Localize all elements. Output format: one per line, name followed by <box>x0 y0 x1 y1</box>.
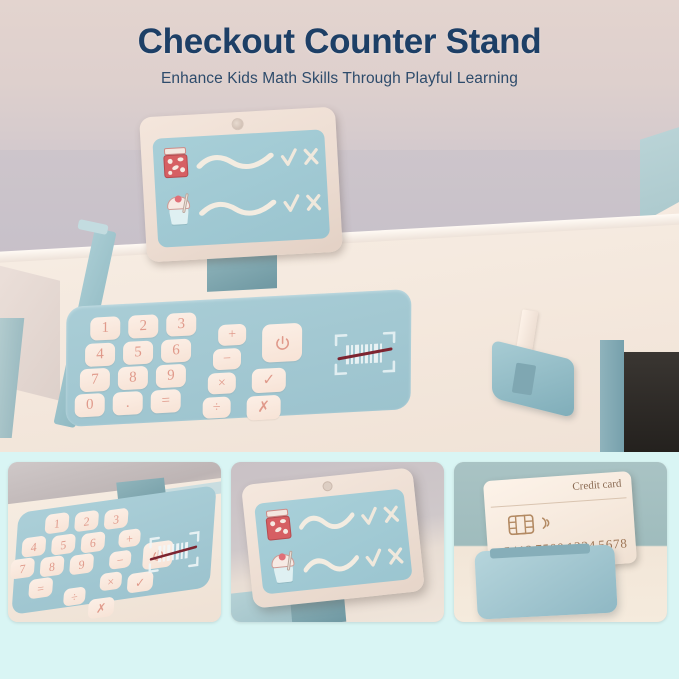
thumbnail-row: 1 2 3 4 5 6 7 8 9 = + − × ÷ <box>8 462 667 622</box>
display-screen[interactable] <box>139 107 343 263</box>
key-2: 2 <box>74 510 99 533</box>
jam-jar-icon <box>159 145 193 185</box>
key-8[interactable]: 8 <box>118 366 148 391</box>
key-equals[interactable]: = <box>151 389 181 414</box>
display-row <box>161 180 323 235</box>
contactless-wave-icon <box>539 514 554 531</box>
key-6[interactable]: 6 <box>161 338 191 363</box>
key-multiply[interactable]: × <box>208 372 236 394</box>
key-7: 7 <box>10 557 35 580</box>
credit-card-label: Credit card <box>572 478 622 493</box>
key-multiply: × <box>99 571 122 591</box>
page-title: Checkout Counter Stand <box>0 22 679 62</box>
key-3: 3 <box>104 508 129 531</box>
key-2[interactable]: 2 <box>128 314 158 339</box>
squiggle-line <box>195 148 276 174</box>
key-cross[interactable]: ✗ <box>247 395 281 421</box>
key-0[interactable]: 0 <box>75 393 105 418</box>
thumb-scanning-area[interactable]: 1 2 3 4 5 6 7 8 9 = + − × ÷ <box>8 462 221 622</box>
key-check: ✓ <box>127 571 154 594</box>
key-8: 8 <box>40 555 65 578</box>
squiggle-line <box>302 549 362 577</box>
shelf-opening <box>620 352 679 452</box>
product-infographic: 1 2 3 4 5 6 7 8 9 0 . = + − × ÷ ✓ ✗ <box>0 0 679 679</box>
barcode-scan-icon <box>148 530 201 574</box>
check-icon <box>279 145 298 172</box>
key-minus[interactable]: − <box>213 348 241 370</box>
card-slot-icon[interactable] <box>486 312 596 420</box>
barcode-scan-icon[interactable] <box>334 330 396 377</box>
key-1: 1 <box>44 512 69 535</box>
feature-strip: 1 2 3 4 5 6 7 8 9 = + − × ÷ <box>0 452 679 679</box>
display-glass <box>152 129 330 247</box>
key-7[interactable]: 7 <box>80 368 110 393</box>
key-plus[interactable]: + <box>218 324 246 346</box>
key-equals: = <box>28 577 53 600</box>
key-5[interactable]: 5 <box>123 340 153 365</box>
thumb-screen[interactable] <box>231 462 444 622</box>
emv-chip-icon <box>507 514 534 536</box>
ice-cream-cup-icon <box>161 191 195 231</box>
cross-icon <box>303 190 322 217</box>
key-plus: + <box>118 528 141 548</box>
key-6: 6 <box>80 531 105 554</box>
cross-icon <box>301 144 320 171</box>
thumb-credit-card-payment[interactable]: Credit card <box>454 462 667 622</box>
key-4[interactable]: 4 <box>85 342 115 367</box>
squiggle-line <box>297 508 357 536</box>
page-subtitle: Enhance Kids Math Skills Through Playful… <box>0 70 679 88</box>
key-3[interactable]: 3 <box>166 312 196 337</box>
key-divide: ÷ <box>63 586 86 606</box>
shelf-side-panel <box>600 340 624 452</box>
cross-icon <box>385 543 406 571</box>
check-icon <box>359 503 380 531</box>
keypad-panel[interactable]: 1 2 3 4 5 6 7 8 9 0 . = + − × ÷ ✓ ✗ <box>66 289 412 427</box>
power-icon <box>274 334 291 352</box>
hero-photo: 1 2 3 4 5 6 7 8 9 0 . = + − × ÷ ✓ ✗ <box>0 0 679 452</box>
key-decimal[interactable]: . <box>113 391 143 416</box>
ice-cream-cup-icon <box>265 548 301 589</box>
cross-icon <box>381 501 402 529</box>
key-4: 4 <box>21 535 46 558</box>
display-glass <box>254 488 413 594</box>
key-check[interactable]: ✓ <box>252 368 286 394</box>
key-9: 9 <box>69 553 94 576</box>
jam-jar-icon <box>261 506 297 547</box>
key-divide[interactable]: ÷ <box>203 396 231 418</box>
key-minus: − <box>109 550 132 570</box>
key-1[interactable]: 1 <box>90 316 120 341</box>
key-5: 5 <box>51 533 76 556</box>
key-9[interactable]: 9 <box>156 364 186 389</box>
squiggle-line <box>198 194 279 220</box>
key-power[interactable] <box>262 323 302 363</box>
check-icon <box>281 191 300 218</box>
check-icon <box>363 545 384 573</box>
